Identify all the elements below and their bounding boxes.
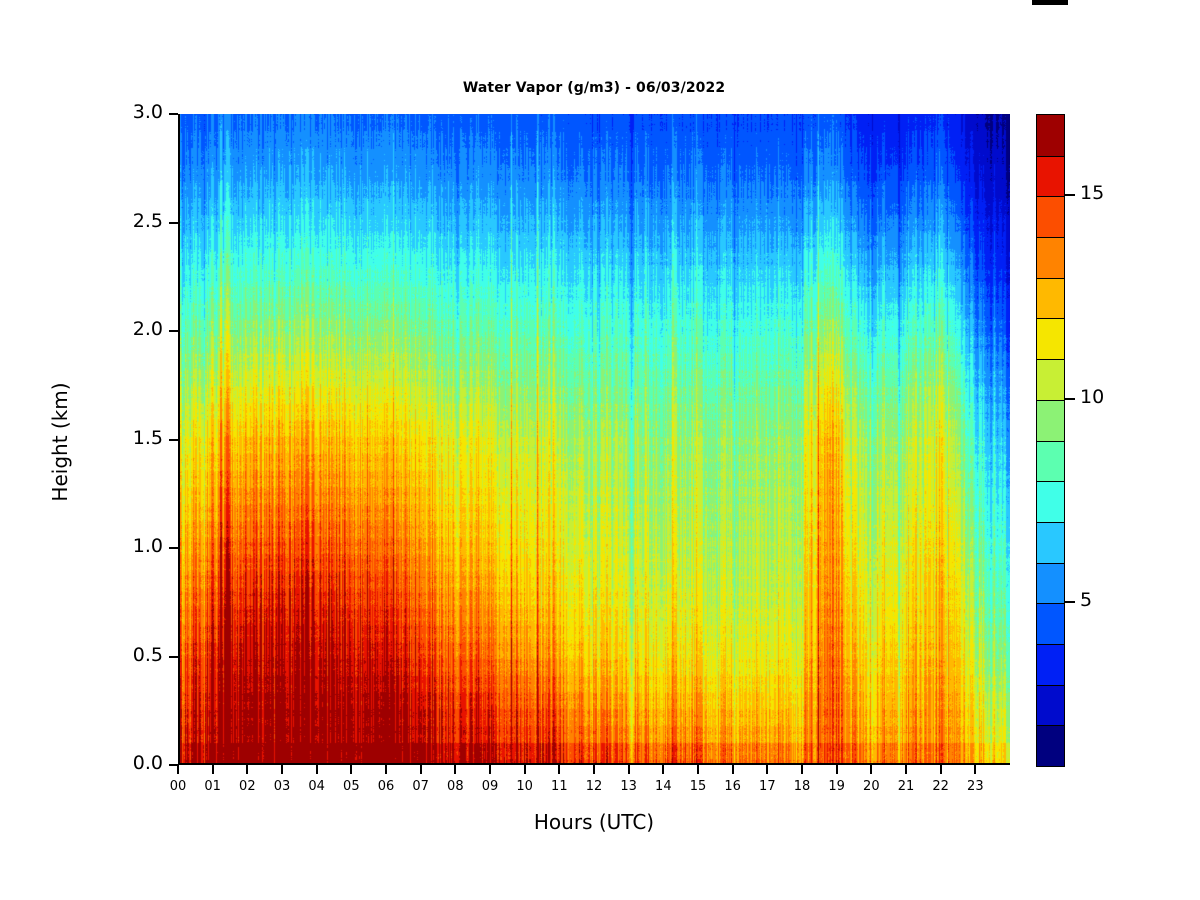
colorbar-band <box>1037 196 1064 237</box>
y-tick-mark <box>169 439 178 441</box>
x-tick-mark <box>870 765 872 774</box>
x-tick-mark <box>316 765 318 774</box>
y-axis-label: Height (km) <box>48 342 72 542</box>
figure-canvas: Water Vapor (g/m3) - 06/03/2022 0.00.51.… <box>0 0 1200 900</box>
colorbar-band <box>1037 522 1064 563</box>
colorbar-band <box>1037 481 1064 522</box>
y-tick-mark <box>169 113 178 115</box>
colorbar-band <box>1037 359 1064 400</box>
colorbar-tick-mark <box>1065 194 1075 196</box>
colorbar-tick-label: 15 <box>1080 182 1104 204</box>
x-tick-mark <box>940 765 942 774</box>
x-tick-mark <box>420 765 422 774</box>
colorbar-band <box>1037 278 1064 319</box>
x-tick-mark <box>212 765 214 774</box>
x-tick-mark <box>281 765 283 774</box>
colorbar-band <box>1037 400 1064 441</box>
colorbar <box>1036 114 1065 767</box>
colorbar-band <box>1037 441 1064 482</box>
x-tick-mark <box>558 765 560 774</box>
colorbar-band <box>1037 685 1064 726</box>
y-tick-label: 0.5 <box>43 644 163 666</box>
y-tick-label: 2.5 <box>43 210 163 232</box>
x-tick-mark <box>350 765 352 774</box>
y-tick-mark <box>169 330 178 332</box>
water-vapor-heatmap <box>178 114 1010 765</box>
x-tick-mark <box>801 765 803 774</box>
y-tick-label: 3.0 <box>43 101 163 123</box>
y-tick-label: 2.0 <box>43 318 163 340</box>
colorbar-tick-label: 10 <box>1080 386 1104 408</box>
x-tick-mark <box>732 765 734 774</box>
x-tick-mark <box>489 765 491 774</box>
y-tick-mark <box>169 222 178 224</box>
colorbar-tick-mark <box>1065 398 1075 400</box>
colorbar-tick-label: 5 <box>1080 589 1092 611</box>
x-tick-mark <box>974 765 976 774</box>
x-axis-label: Hours (UTC) <box>378 810 810 834</box>
x-tick-mark <box>454 765 456 774</box>
heatmap-plot-area <box>178 114 1010 765</box>
x-tick-mark <box>836 765 838 774</box>
x-tick-mark <box>593 765 595 774</box>
page-title: Water Vapor (g/m3) - 06/03/2022 <box>178 80 1010 96</box>
y-tick-label: 0.0 <box>43 752 163 774</box>
x-tick-mark <box>524 765 526 774</box>
colorbar-band <box>1037 563 1064 604</box>
x-tick-mark <box>766 765 768 774</box>
x-tick-mark <box>246 765 248 774</box>
y-tick-mark <box>169 656 178 658</box>
x-tick-label: 23 <box>945 779 1005 794</box>
x-tick-mark <box>662 765 664 774</box>
colorbar-band <box>1037 156 1064 197</box>
colorbar-band <box>1037 725 1064 766</box>
corner-artifact-bar <box>1032 0 1068 5</box>
colorbar-band <box>1037 644 1064 685</box>
x-tick-mark <box>177 765 179 774</box>
colorbar-tick-mark <box>1065 601 1075 603</box>
x-tick-mark <box>697 765 699 774</box>
x-tick-mark <box>385 765 387 774</box>
x-tick-mark <box>628 765 630 774</box>
colorbar-band <box>1037 237 1064 278</box>
colorbar-band <box>1037 318 1064 359</box>
colorbar-band <box>1037 603 1064 644</box>
x-tick-mark <box>905 765 907 774</box>
colorbar-band <box>1037 115 1064 156</box>
y-tick-mark <box>169 547 178 549</box>
